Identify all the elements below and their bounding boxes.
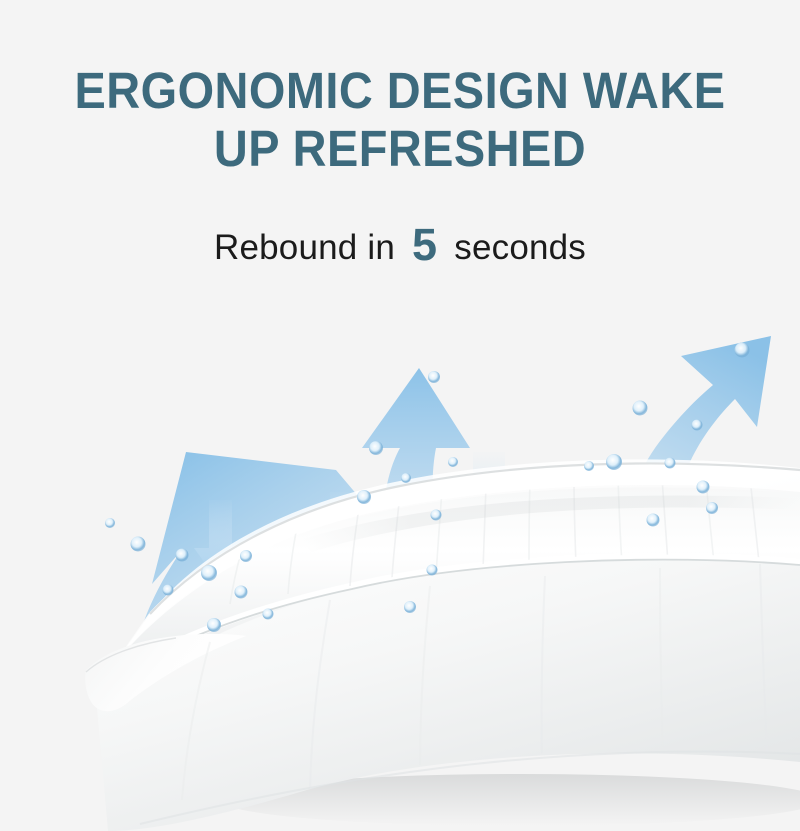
bubble — [692, 420, 703, 431]
bubble — [357, 490, 371, 504]
bubble — [263, 609, 274, 620]
rebound-lead-text: Rebound in — [214, 228, 395, 268]
bubble — [207, 618, 221, 632]
bubble — [163, 585, 174, 596]
page-title: ERGONOMIC DESIGN WAKE UP REFRESHED — [32, 62, 768, 178]
bubble — [428, 371, 440, 383]
bubble — [584, 461, 594, 471]
bubble — [369, 441, 383, 455]
rebound-unit-text: seconds — [454, 228, 586, 268]
bubble — [401, 473, 411, 483]
bubble — [665, 458, 676, 469]
bubble — [201, 565, 217, 581]
bubble — [633, 401, 648, 416]
bubble — [404, 601, 416, 613]
bubble — [606, 454, 622, 470]
bubble — [735, 343, 750, 358]
bubble — [448, 457, 458, 467]
bubble — [431, 510, 442, 521]
bubble — [647, 514, 660, 527]
bubble — [105, 518, 115, 528]
bubble — [235, 586, 248, 599]
bubble — [176, 549, 189, 562]
bubble — [131, 537, 146, 552]
bubble — [427, 565, 438, 576]
pillow-promo-banner: ERGONOMIC DESIGN WAKE UP REFRESHED Rebou… — [0, 0, 800, 831]
bubble — [240, 550, 252, 562]
rebound-seconds-value: 5 — [412, 225, 437, 265]
headline-block: ERGONOMIC DESIGN WAKE UP REFRESHED Rebou… — [0, 62, 800, 268]
bubble — [697, 481, 710, 494]
bubble — [706, 502, 718, 514]
rebound-subheadline: Rebound in 5 seconds — [0, 224, 800, 268]
